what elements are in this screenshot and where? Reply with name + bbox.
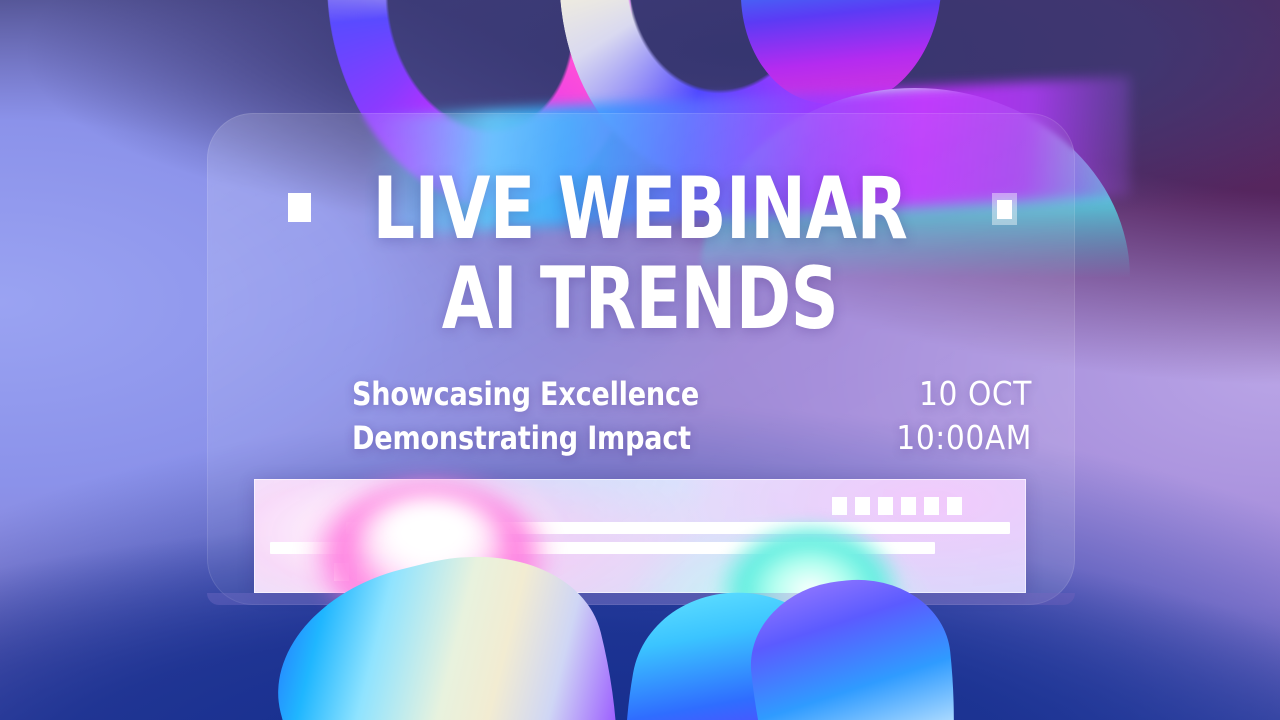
event-time: 10:00AM [896,416,1032,460]
panel-dot [901,497,916,515]
subtitle-block: Showcasing Excellence Demonstrating Impa… [352,372,699,460]
subtitle-line1: Showcasing Excellence [352,372,699,416]
square-marker-left [288,193,311,222]
panel-dot [878,497,893,515]
poster-canvas: LIVE WEBINAR AI TRENDS Showcasing Excell… [0,0,1280,720]
subtitle-line2: Demonstrating Impact [352,416,699,460]
subtitle-row: Showcasing Excellence Demonstrating Impa… [352,372,1032,458]
page-title-line1: LIVE WEBINAR [90,166,1191,252]
square-marker-right [992,193,1017,225]
panel-dot [947,497,962,515]
panel-dot [924,497,939,515]
datetime-block: 10 OCT 10:00AM [896,372,1032,460]
square-marker-right-core [997,200,1012,219]
event-date: 10 OCT [896,372,1032,416]
page-title-line2: AI TRENDS [90,256,1191,342]
